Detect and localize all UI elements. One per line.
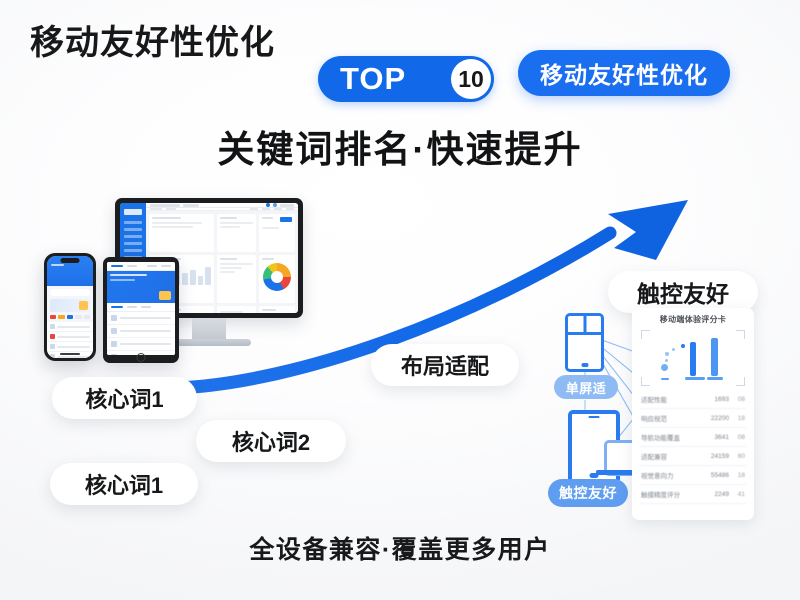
monitor-stand <box>192 318 226 340</box>
footer-tagline: 全设备兼容·覆盖更多用户 <box>0 530 800 566</box>
table-row: 响应规范 22200 18 <box>639 409 747 428</box>
monitor-base <box>167 339 251 346</box>
row-value-1: 1693 <box>709 396 729 403</box>
pill-keyword-1b[interactable]: 核心词1 <box>50 463 198 505</box>
row-name: 导航功能覆盖 <box>641 432 705 442</box>
row-value-2: 08 <box>733 434 745 441</box>
arrow-head <box>608 200 688 260</box>
table-row: 触摸精度评分 2249 41 <box>639 485 747 504</box>
top-badge-word: TOP <box>340 61 406 97</box>
tablet-list-item <box>107 338 175 351</box>
phone-list-item <box>47 332 93 342</box>
row-name: 触摸精度评分 <box>641 489 705 499</box>
tablet-list-item <box>107 312 175 325</box>
widget-summary <box>217 214 257 252</box>
tablet-screen <box>107 262 175 355</box>
row-value-2: 08 <box>733 396 745 403</box>
phone-category-tabs <box>47 312 93 322</box>
row-value-1: 2249 <box>709 491 729 498</box>
tablet-tabbar <box>107 303 175 312</box>
scorecard-chart <box>641 330 745 386</box>
tablet-statusbar <box>107 262 175 271</box>
table-row: 导航功能覆盖 3641 08 <box>639 428 747 447</box>
row-value-1: 22200 <box>709 415 729 422</box>
row-value-1: 55486 <box>709 472 729 479</box>
tablet-mockup <box>103 257 179 363</box>
row-name: 适配性能 <box>641 394 705 404</box>
poster-canvas: 移动友好性优化 TOP 10 移动友好性优化 关键词排名·快速提升 <box>0 0 800 600</box>
phone-screen <box>47 256 93 358</box>
diagram-phone-split-icon <box>565 313 604 372</box>
tablet-home-button <box>137 353 146 362</box>
row-name: 适配兼容 <box>641 451 705 461</box>
widget-area-chart <box>259 306 295 314</box>
pill-keyword-2[interactable]: 核心词2 <box>196 420 346 462</box>
widget-spacer <box>217 306 257 314</box>
table-row: 视觉意向力 55486 18 <box>639 466 747 485</box>
header-tag-pill: 移动友好性优化 <box>518 50 730 96</box>
widget-mini <box>217 255 257 303</box>
tablet-hero-banner <box>107 271 175 303</box>
top-rank-badge: TOP 10 <box>318 56 494 102</box>
top-badge-number: 10 <box>451 59 491 99</box>
row-value-2: 41 <box>733 491 745 498</box>
phone-home-indicator <box>60 353 80 355</box>
diagram-pill-single-screen[interactable]: 单屏适 <box>554 375 618 399</box>
phone-mockup <box>44 253 96 361</box>
table-row: 适配性能 1693 08 <box>639 390 747 409</box>
table-row: 适配兼容 24159 60 <box>639 447 747 466</box>
scorecard-row-list: 适配性能 1693 08 响应规范 22200 18 导航功能覆盖 3641 0… <box>639 390 747 504</box>
widget-filters <box>149 214 214 252</box>
row-value-1: 3641 <box>709 434 729 441</box>
row-value-1: 24159 <box>709 453 729 460</box>
row-name: 视觉意向力 <box>641 470 705 480</box>
phone-list-item <box>47 322 93 332</box>
row-value-2: 60 <box>733 453 745 460</box>
device-mockup-group <box>0 0 340 380</box>
row-value-2: 18 <box>733 472 745 479</box>
tablet-list-item <box>107 325 175 338</box>
phone-list-item <box>47 342 93 352</box>
row-name: 响应规范 <box>641 413 705 423</box>
pill-keyword-1a[interactable]: 核心词1 <box>52 377 197 419</box>
pill-layout-adapt[interactable]: 布局适配 <box>371 344 519 386</box>
phone-banner <box>50 299 90 312</box>
scorecard-title: 移动端体验评分卡 <box>639 314 747 325</box>
widget-actions <box>259 214 295 252</box>
donut-chart <box>263 263 291 291</box>
mobile-experience-scorecard: 移动端体验评分卡 适配性能 1693 08 响应规范 22200 <box>632 308 754 520</box>
row-value-2: 18 <box>733 415 745 422</box>
widget-donut-chart <box>259 255 295 303</box>
diagram-pill-touch-friendly[interactable]: 触控友好 <box>548 479 628 507</box>
phone-search-bar <box>50 289 90 296</box>
phone-notch <box>61 258 80 263</box>
